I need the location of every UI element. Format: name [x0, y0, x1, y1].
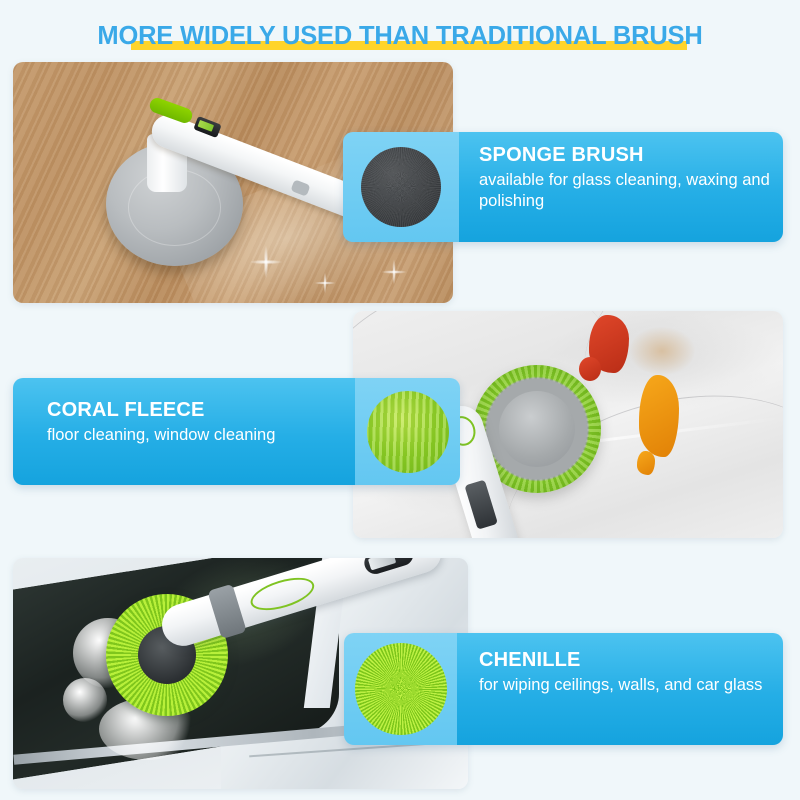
sponge-brush-text-panel: SPONGE BRUSH available for glass cleanin…: [459, 132, 783, 242]
chenille-title: CHENILLE: [479, 649, 783, 673]
page-title: MORE WIDELY USED THAN TRADITIONAL BRUSH: [0, 22, 800, 51]
sponge-brush-callout: SPONGE BRUSH available for glass cleanin…: [343, 132, 783, 242]
coral-fleece-pad-swatch-panel: [355, 378, 460, 485]
chenille-text-panel: CHENILLE for wiping ceilings, walls, and…: [457, 633, 783, 745]
coral-fleece-pad-swatch: [367, 391, 449, 473]
coral-fleece-text-panel: CORAL FLEECE floor cleaning, window clea…: [13, 378, 355, 485]
sponge-pad-swatch: [361, 147, 441, 227]
chenille-description: for wiping ceilings, walls, and car glas…: [479, 675, 783, 696]
coral-fleece-title: CORAL FLEECE: [47, 399, 347, 423]
mustard-stain: [639, 375, 679, 457]
coral-fleece-callout: CORAL FLEECE floor cleaning, window clea…: [13, 378, 460, 485]
scrubber-display-icon: [362, 558, 416, 577]
chenille-pad-swatch: [355, 643, 447, 735]
sponge-brush-title: SPONGE BRUSH: [479, 144, 775, 168]
chenille-callout: CHENILLE for wiping ceilings, walls, and…: [344, 633, 783, 745]
sponge-pad-swatch-panel: [343, 132, 459, 242]
chenille-pad-swatch-panel: [344, 633, 457, 745]
sparkle-icon: [243, 239, 289, 285]
sponge-brush-description: available for glass cleaning, waxing and…: [479, 170, 775, 213]
pole-clamp: [207, 584, 246, 639]
sparkle-icon: [376, 254, 412, 290]
grease-stain: [629, 327, 695, 375]
soap-suds: [63, 678, 107, 722]
sparkle-icon: [310, 268, 340, 298]
mustard-stain: [637, 451, 655, 475]
pad-hub: [499, 391, 575, 467]
ketchup-stain: [579, 357, 601, 381]
coral-fleece-description: floor cleaning, window cleaning: [47, 425, 347, 446]
scrubber-display-icon: [464, 480, 498, 530]
page-title-text: MORE WIDELY USED THAN TRADITIONAL BRUSH: [97, 22, 702, 50]
